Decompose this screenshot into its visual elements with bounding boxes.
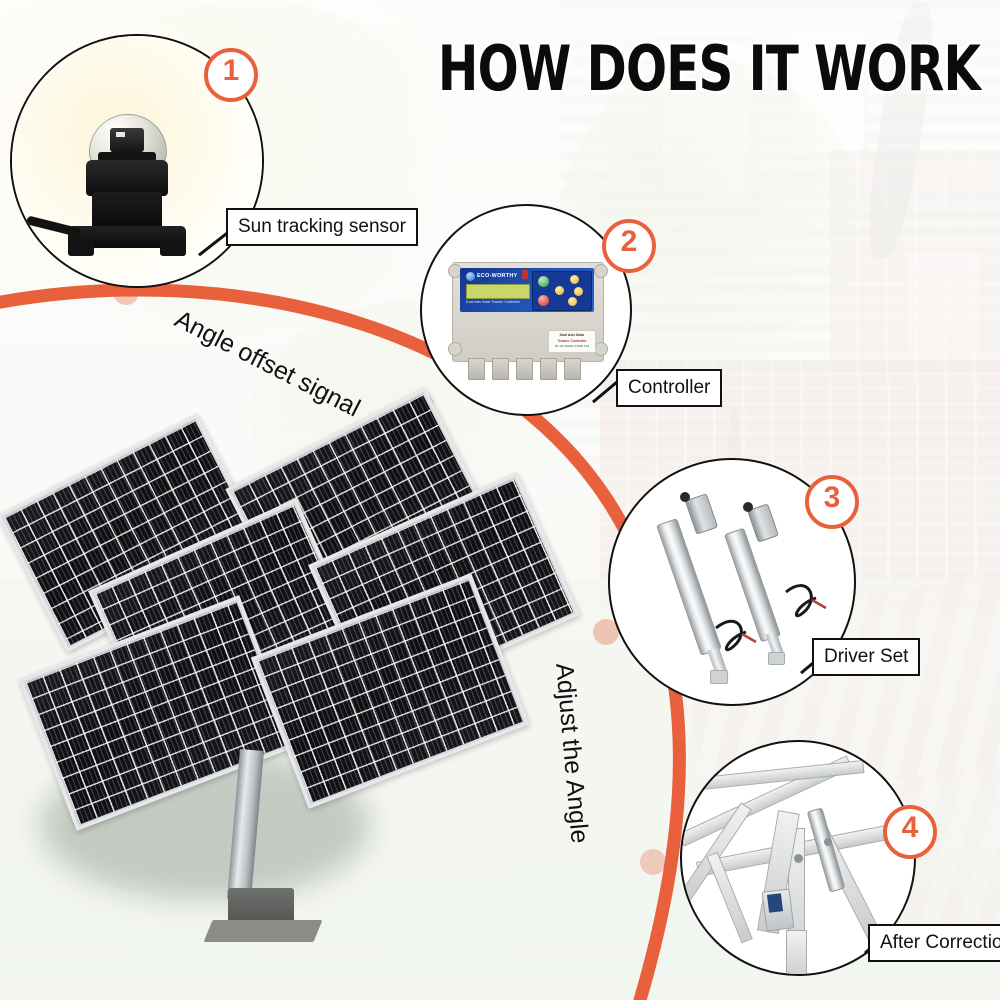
controller-sticker: Dual Axis Solar Tracker Controller DC 12… (548, 330, 596, 353)
callout-bubble-2[interactable]: ECO-WORTHY Dual Axis Solar Tracker Contr… (420, 204, 632, 416)
controller-screw (594, 342, 608, 356)
callout-label-3[interactable]: Driver Set (812, 638, 920, 676)
infographic-canvas: HOW DOES IT WORK Angle offset signal Tur… (0, 0, 1000, 1000)
cable-gland (540, 358, 557, 380)
controller-sticker-line3: DC 12V 24V/DC 1.5KW/ 1.5A (549, 345, 595, 348)
callout-label-4[interactable]: After Correction (868, 924, 1000, 962)
callout-label-2[interactable]: Controller (616, 369, 722, 407)
callout-badge-1: 1 (204, 48, 258, 102)
mount-bolt (794, 854, 803, 863)
pole-base-plate (204, 920, 323, 942)
sensor-led (116, 132, 125, 137)
mount-bolt (824, 838, 832, 846)
solar-panel-array (0, 420, 560, 950)
controller-screw (448, 342, 462, 356)
controller-sticker-line1: Dual Axis Solar (549, 333, 595, 337)
controller-key-red[interactable] (538, 295, 549, 306)
controller-power-led (522, 270, 528, 279)
callout-badge-2: 2 (602, 219, 656, 273)
controller-brand: ECO-WORTHY (477, 273, 517, 279)
controller-icon: ECO-WORTHY Dual Axis Solar Tracker Contr… (422, 206, 630, 414)
controller-key-yellow[interactable] (568, 297, 577, 306)
page-title: HOW DOES IT WORK (438, 38, 980, 100)
cable-gland (564, 358, 581, 380)
callout-badge-3: 3 (805, 475, 859, 529)
mount-controller-face (767, 893, 783, 913)
cable-gland (516, 358, 533, 380)
controller-sticker-line2: Tracker Controller (549, 339, 595, 343)
controller-key-yellow[interactable] (574, 287, 583, 296)
callout-label-1[interactable]: Sun tracking sensor (226, 208, 418, 246)
callout-badge-4: 4 (883, 805, 937, 859)
sensor-cable (26, 215, 83, 237)
cable-gland (468, 358, 485, 380)
controller-screw (594, 264, 608, 278)
controller-panel-text: Dual Axis Solar Tracker Controller (466, 300, 520, 304)
controller-key-yellow[interactable] (570, 275, 579, 284)
controller-logo-icon (466, 272, 475, 281)
cable-gland (492, 358, 509, 380)
controller-key-yellow[interactable] (555, 286, 564, 295)
controller-key-green[interactable] (538, 276, 549, 287)
